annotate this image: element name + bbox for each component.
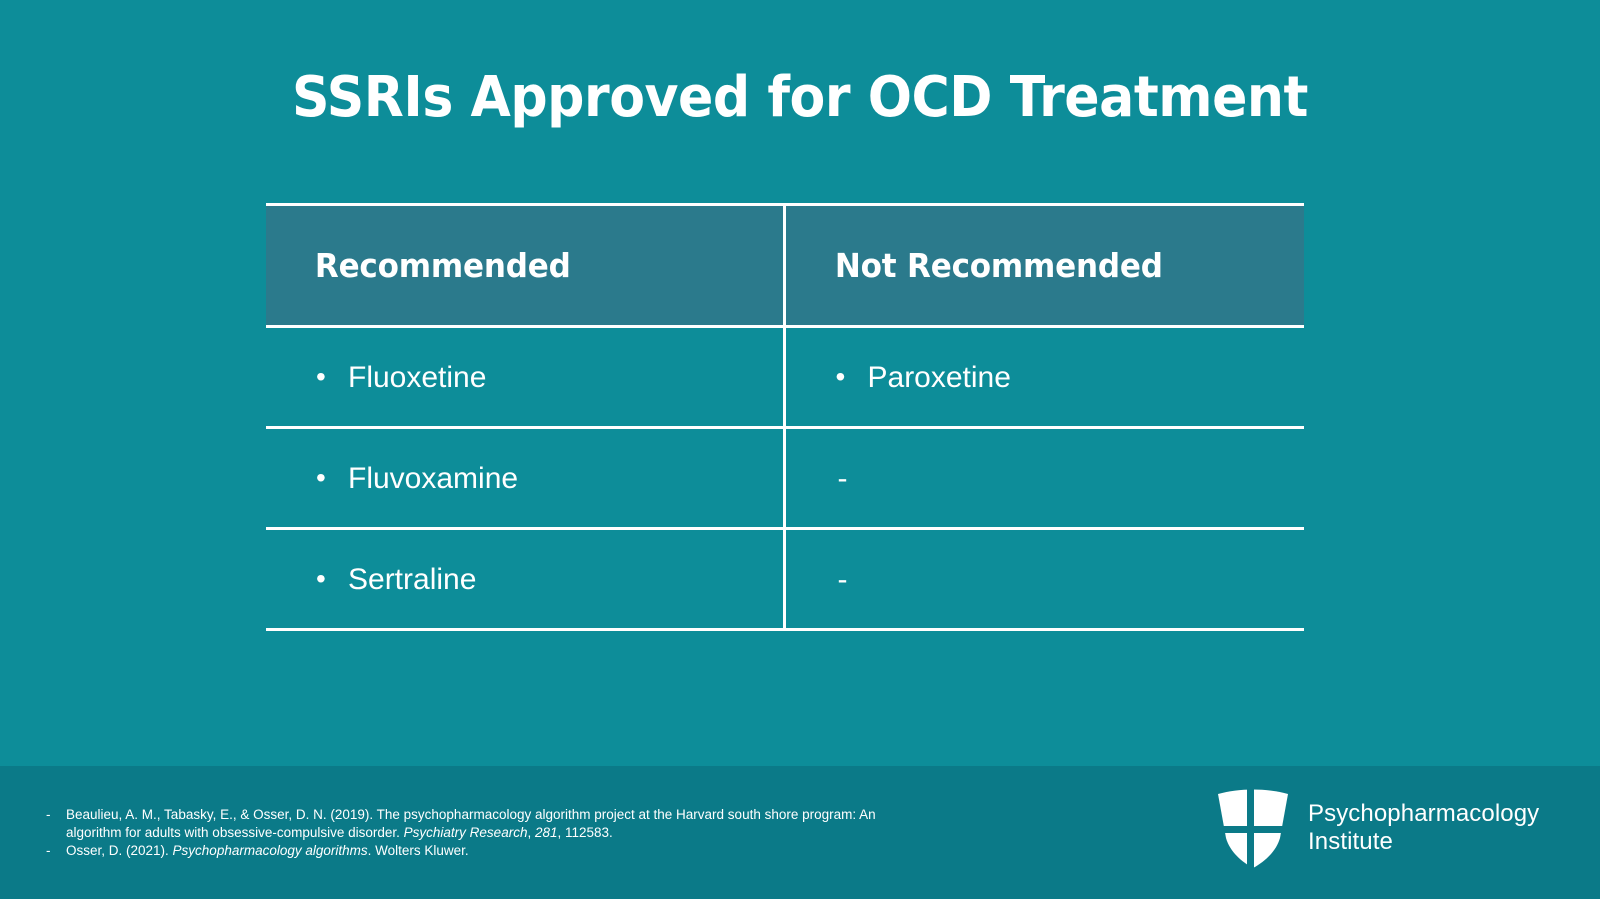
table-body: • Fluoxetine • Paroxetine •	[266, 327, 1304, 630]
citation-plain-2: ,	[527, 825, 535, 840]
page-title: SSRIs Approved for OCD Treatment	[56, 63, 1544, 133]
citation-list: - Beaulieu, A. M., Tabasky, E., & Osser,…	[46, 806, 876, 860]
table-row: • Fluoxetine • Paroxetine	[266, 327, 1304, 428]
cell-recommended-1: • Fluoxetine	[266, 327, 784, 428]
brand-logo: Psychopharmacology Institute	[1216, 788, 1539, 868]
citation-text: Beaulieu, A. M., Tabasky, E., & Osser, D…	[66, 806, 876, 842]
table-row: • Sertraline -	[266, 529, 1304, 630]
drug-name-label: Fluoxetine	[348, 361, 486, 394]
table-head: Recommended Not Recommended	[266, 205, 1304, 327]
brand-name-line1: Psychopharmacology	[1308, 800, 1539, 827]
citation-journal: Psychiatry Research	[404, 825, 528, 840]
bullet-icon: •	[836, 363, 868, 391]
brand-name-line2: Institute	[1308, 828, 1539, 856]
citation-plain-2: . Wolters Kluwer.	[368, 843, 469, 858]
shield-icon	[1216, 788, 1290, 868]
brand-name: Psychopharmacology Institute	[1308, 800, 1539, 856]
column-header-recommended-label: Recommended	[266, 246, 571, 285]
ssri-table-container: Recommended Not Recommended • Fluoxetine	[266, 203, 1304, 631]
citation-plain-1: Osser, D. (2021).	[66, 843, 173, 858]
list-item: • Fluoxetine	[266, 361, 783, 394]
table-header-row: Recommended Not Recommended	[266, 205, 1304, 327]
cell-not-recommended-3: -	[784, 529, 1304, 630]
citation-text: Osser, D. (2021). Psychopharmacology alg…	[66, 842, 876, 860]
bullet-icon: •	[316, 464, 348, 492]
dash-placeholder: -	[838, 563, 848, 596]
citation-item: - Beaulieu, A. M., Tabasky, E., & Osser,…	[46, 806, 876, 842]
bullet-icon: •	[316, 363, 348, 391]
cell-not-recommended-2: -	[784, 428, 1304, 529]
column-header-recommended: Recommended	[266, 205, 784, 327]
list-item: • Sertraline	[266, 563, 783, 596]
empty-value: -	[786, 462, 1305, 495]
citation-item: - Osser, D. (2021). Psychopharmacology a…	[46, 842, 876, 860]
column-header-not-recommended: Not Recommended	[784, 205, 1304, 327]
column-header-not-recommended-label: Not Recommended	[786, 246, 1163, 285]
drug-name-label: Fluvoxamine	[348, 462, 518, 495]
list-item: • Paroxetine	[786, 361, 1305, 394]
cell-not-recommended-1: • Paroxetine	[784, 327, 1304, 428]
bullet-icon: •	[316, 565, 348, 593]
citation-dash-marker: -	[46, 806, 66, 824]
cell-recommended-2: • Fluvoxamine	[266, 428, 784, 529]
citation-title: Psychopharmacology algorithms	[173, 843, 368, 858]
empty-value: -	[786, 563, 1305, 596]
dash-placeholder: -	[838, 462, 848, 495]
drug-name-label: Paroxetine	[868, 361, 1011, 394]
citation-volume: 281	[535, 825, 558, 840]
ssri-table: Recommended Not Recommended • Fluoxetine	[266, 203, 1304, 631]
drug-name-label: Sertraline	[348, 563, 476, 596]
slide-canvas: SSRIs Approved for OCD Treatment Recomme…	[0, 0, 1600, 899]
table-row: • Fluvoxamine -	[266, 428, 1304, 529]
citation-dash-marker: -	[46, 842, 66, 860]
cell-recommended-3: • Sertraline	[266, 529, 784, 630]
citation-plain-3: , 112583.	[558, 825, 613, 840]
list-item: • Fluvoxamine	[266, 462, 783, 495]
